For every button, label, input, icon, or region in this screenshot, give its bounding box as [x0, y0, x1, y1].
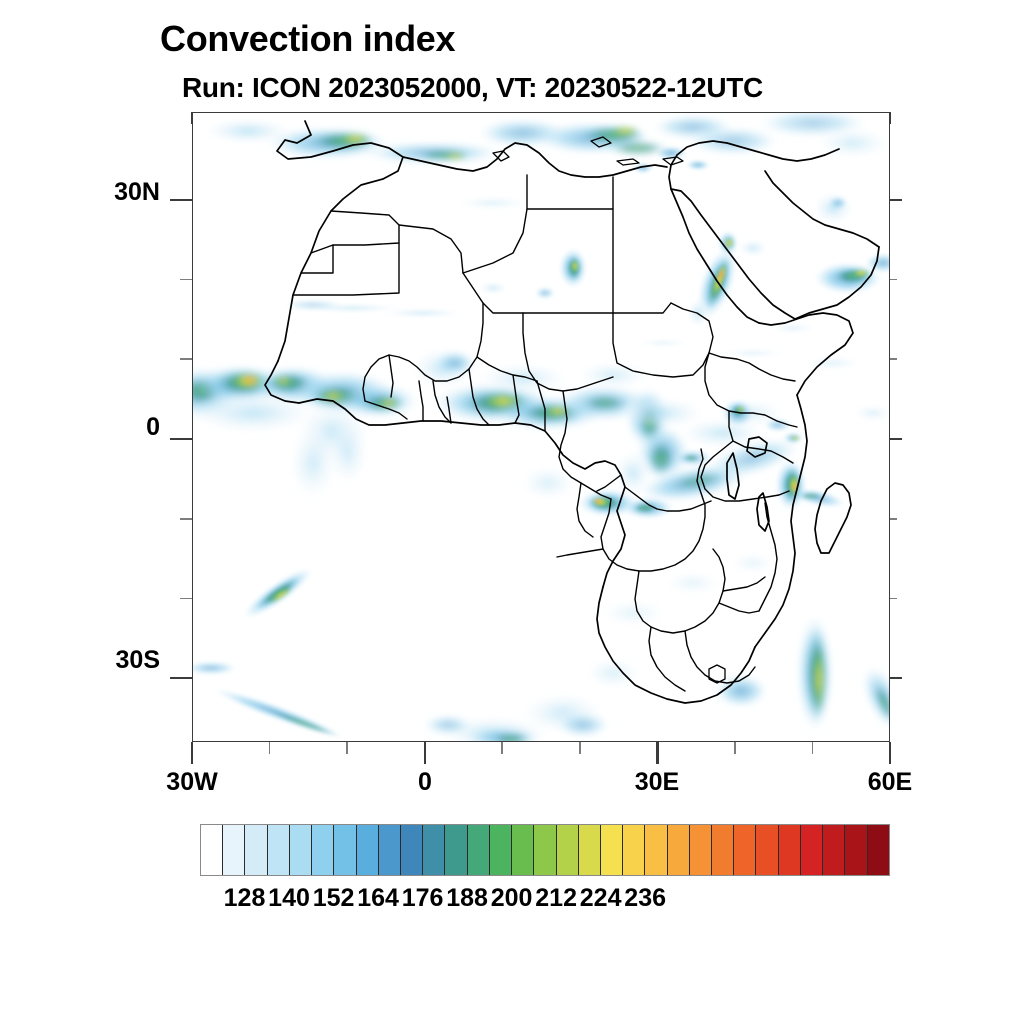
- colorbar-cell: [823, 825, 845, 875]
- x-axis-label-30e: 30E: [587, 768, 727, 797]
- y-minor-tick-right: [890, 518, 897, 520]
- x-axis-label-0: 0: [355, 768, 495, 797]
- colorbar-cell: [490, 825, 512, 875]
- x-minor-tick: [501, 742, 503, 754]
- x-major-tick: [424, 742, 426, 764]
- colorbar-cell: [734, 825, 756, 875]
- colorbar-cell: [268, 825, 290, 875]
- colorbar-cell: [756, 825, 778, 875]
- run-valid-time-subtitle: Run: ICON 2023052000, VT: 20230522-12UTC: [182, 72, 763, 104]
- colorbar-cell: [468, 825, 490, 875]
- map-canvas: [193, 113, 890, 742]
- x-minor-tick: [269, 742, 271, 754]
- y-axis-label-0: 0: [40, 413, 160, 442]
- y-minor-tick-right: [890, 279, 897, 281]
- x-axis-label-30w: 30W: [122, 768, 262, 797]
- x-minor-tick: [346, 742, 348, 754]
- y-minor-tick-right: [890, 598, 897, 600]
- colorbar-cell: [845, 825, 867, 875]
- colorbar-cell: [779, 825, 801, 875]
- colorbar-cell: [868, 825, 889, 875]
- y-major-tick-right: [890, 438, 902, 440]
- y-minor-tick-right: [890, 358, 897, 360]
- colorbar-cell: [379, 825, 401, 875]
- x-minor-tick: [812, 742, 814, 754]
- y-minor-tick: [180, 358, 192, 360]
- x-minor-tick: [734, 742, 736, 754]
- y-major-tick: [170, 438, 192, 440]
- colorbar-cell: [201, 825, 223, 875]
- colorbar-cell: [423, 825, 445, 875]
- colorbar-cell: [445, 825, 467, 875]
- colorbar-cell: [712, 825, 734, 875]
- colorbar-cell: [579, 825, 601, 875]
- y-axis-label-30n: 30N: [40, 178, 160, 207]
- colorbar-cell: [690, 825, 712, 875]
- y-axis-label-30s: 30S: [40, 646, 160, 675]
- colorbar-tick-236: 236: [605, 884, 685, 913]
- y-major-tick: [170, 199, 192, 201]
- colorbar-cell: [223, 825, 245, 875]
- colorbar-cell: [601, 825, 623, 875]
- colorbar-cell: [357, 825, 379, 875]
- colorbar-cell: [801, 825, 823, 875]
- convection-field: [193, 113, 890, 742]
- y-minor-tick: [180, 279, 192, 281]
- page-title: Convection index: [160, 18, 455, 60]
- colorbar-cell: [290, 825, 312, 875]
- weather-map-figure: Convection index Run: ICON 2023052000, V…: [0, 0, 1024, 1024]
- x-minor-tick: [579, 742, 581, 754]
- colorbar-cell: [534, 825, 556, 875]
- y-minor-tick: [180, 598, 192, 600]
- colorbar-cell: [668, 825, 690, 875]
- x-axis-label-60e: 60E: [820, 768, 960, 797]
- y-major-tick: [170, 677, 192, 679]
- x-major-tick: [889, 742, 891, 764]
- colorbar-cell: [512, 825, 534, 875]
- y-major-tick-right: [890, 677, 902, 679]
- y-major-tick-right: [890, 199, 902, 201]
- x-major-tick: [191, 742, 193, 764]
- colorbar-cell: [401, 825, 423, 875]
- map-plot-area[interactable]: [192, 112, 890, 742]
- colorbar-tick-labels: 128140152164176188200212224236: [200, 884, 890, 920]
- colorbar-cell: [623, 825, 645, 875]
- colorbar-cell: [334, 825, 356, 875]
- y-minor-tick: [180, 518, 192, 520]
- x-major-tick: [656, 742, 658, 764]
- colorbar-cell: [245, 825, 267, 875]
- colorbar-cell: [557, 825, 579, 875]
- colorbar-cell: [312, 825, 334, 875]
- colorbar[interactable]: [200, 824, 890, 876]
- colorbar-cell: [645, 825, 667, 875]
